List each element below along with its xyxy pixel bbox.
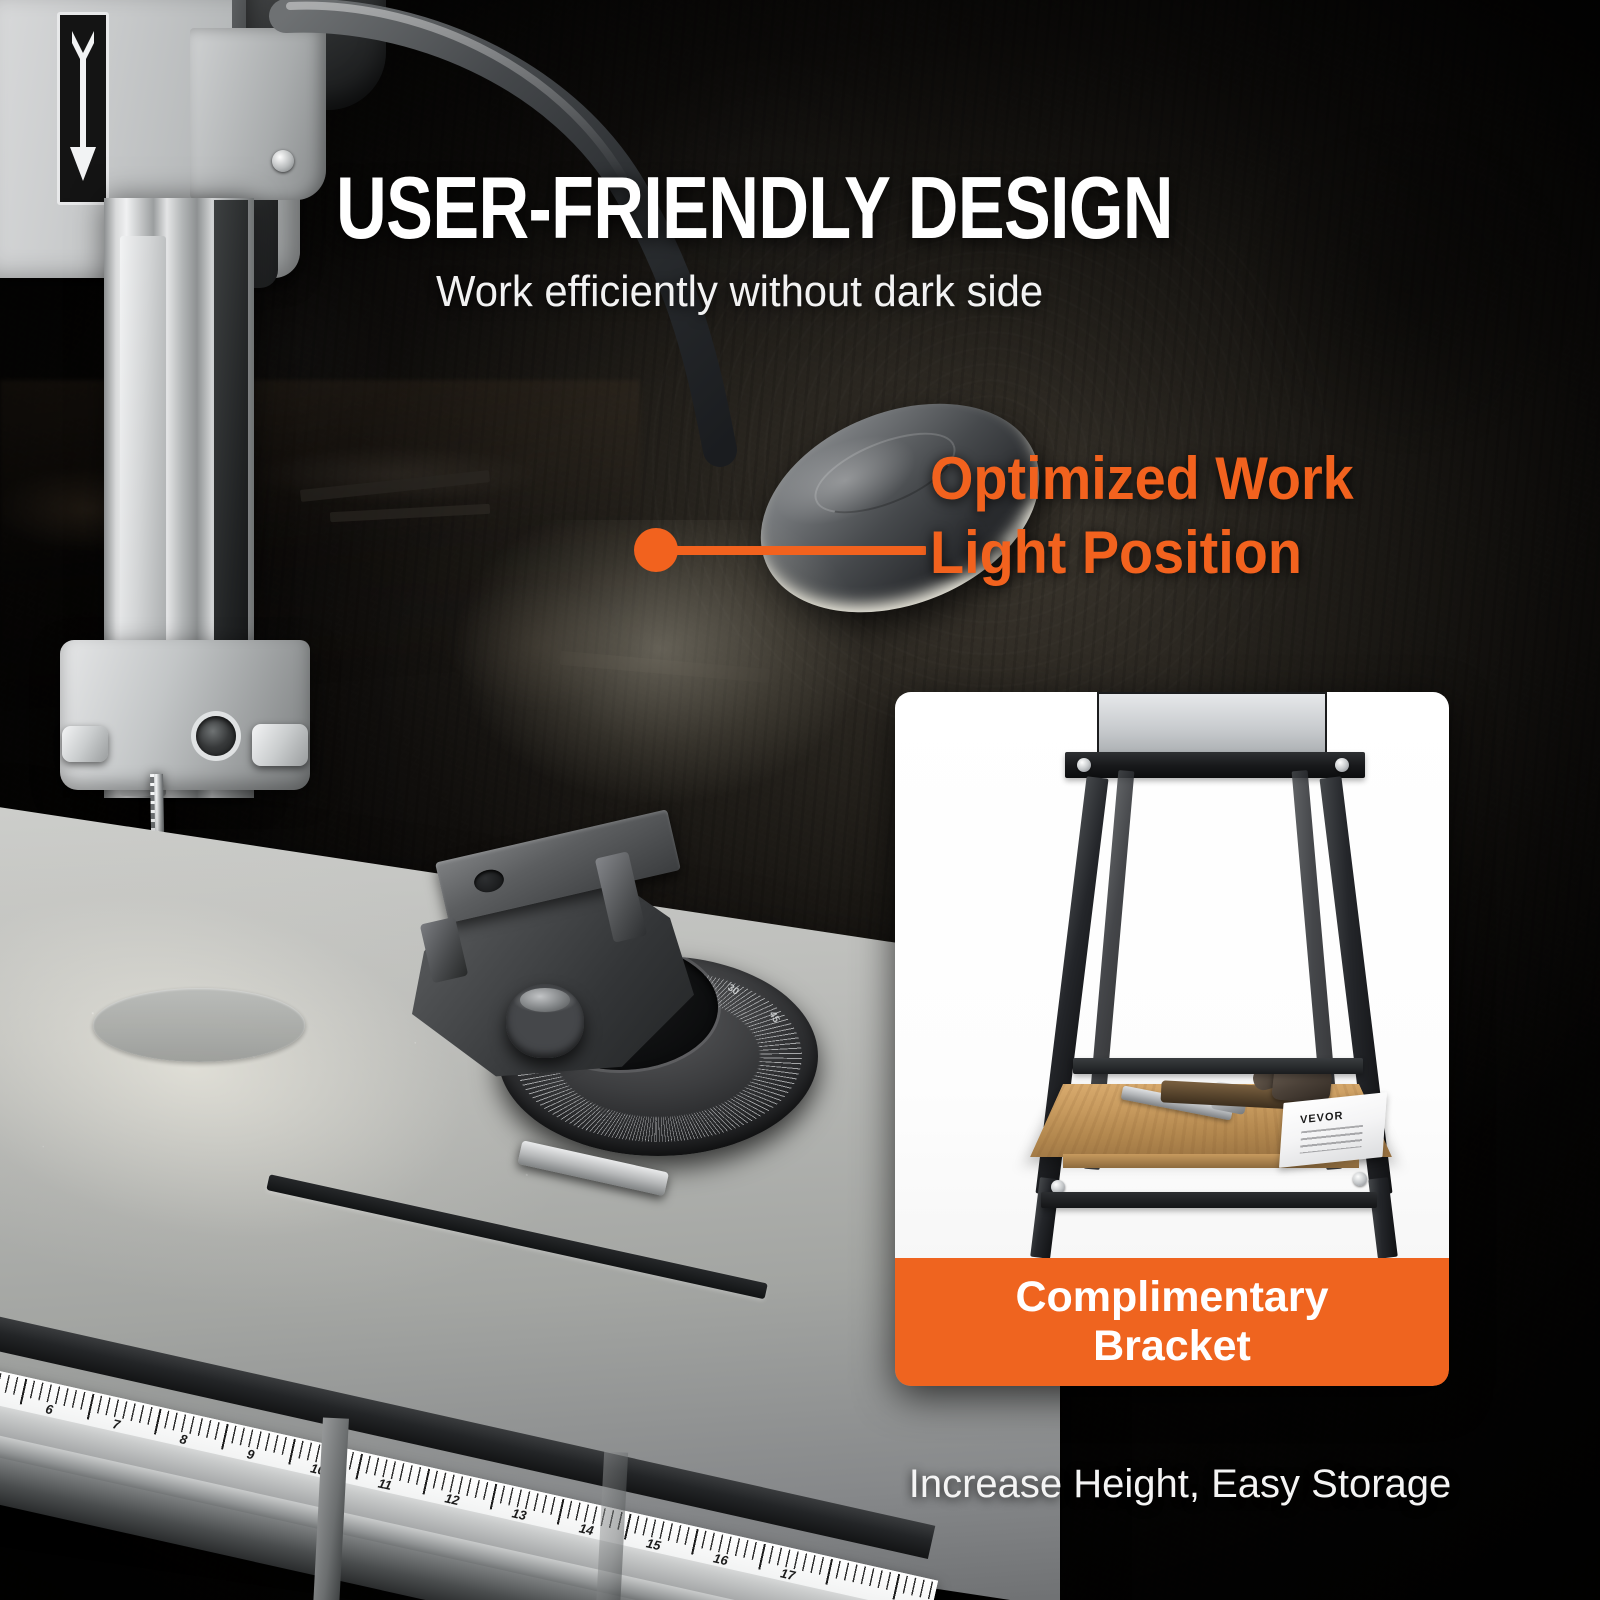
- bracket-inset-card[interactable]: VEVOR Complimentary Bracket: [895, 692, 1449, 1386]
- blade-guide-assembly: [60, 640, 310, 790]
- callout-leader-line: [668, 546, 926, 555]
- ruler-number: 15: [645, 1535, 662, 1553]
- ruler-number: 11: [377, 1475, 393, 1493]
- ruler-number: 8: [178, 1431, 188, 1447]
- bolt-icon: [1335, 758, 1349, 772]
- throat-plate-insert: [93, 988, 305, 1062]
- miter-knob-cap: [520, 988, 570, 1012]
- inset-caption: Increase Height, Easy Storage: [860, 1462, 1500, 1507]
- ruler-number: 16: [712, 1550, 729, 1568]
- ruler-number: 14: [578, 1520, 595, 1538]
- miter-gauge[interactable]: 4530150153045: [398, 838, 818, 1178]
- page-title: USER-FRIENDLY DESIGN: [336, 164, 1072, 252]
- miter-degree-label: 30: [726, 983, 741, 998]
- miter-degree-label: 45: [766, 1010, 781, 1025]
- blade-direction-decal: [57, 12, 109, 205]
- vevor-manual: VEVOR: [1279, 1092, 1387, 1168]
- manual-text-lines: [1300, 1125, 1363, 1154]
- callout-line-2: Light Position: [930, 518, 1302, 588]
- bracket-photo: VEVOR: [895, 692, 1449, 1258]
- ruler-number: 9: [246, 1446, 256, 1462]
- badge-line-1: Complimentary: [1015, 1273, 1328, 1322]
- bandsaw-base-on-stand: [1097, 692, 1327, 758]
- guide-bearing: [196, 716, 236, 756]
- callout-line-1: Optimized Work: [930, 444, 1354, 514]
- complimentary-bracket-badge: Complimentary Bracket: [895, 1258, 1449, 1386]
- bolt-icon: [1077, 758, 1091, 772]
- ruler-number: 6: [44, 1401, 54, 1417]
- page-subtitle: Work efficiently without dark side: [436, 268, 1158, 316]
- down-arrow-icon: [66, 29, 100, 189]
- bolt-icon: [1353, 1172, 1367, 1186]
- ruler-number: 17: [779, 1565, 796, 1583]
- ruler-number: 12: [443, 1490, 460, 1508]
- ruler-number: 13: [511, 1505, 528, 1523]
- ruler-number: 7: [111, 1416, 121, 1432]
- guide-lock-knob[interactable]: [62, 726, 108, 762]
- vevor-logo: VEVOR: [1300, 1110, 1344, 1127]
- product-marketing-image: 234567891011121314151617 4530150153045: [0, 0, 1600, 1600]
- stand-lower-rail: [1073, 1058, 1363, 1074]
- guide-adjust-knob[interactable]: [252, 724, 308, 766]
- stand-bottom-rail: [1041, 1192, 1377, 1208]
- badge-line-2: Bracket: [1093, 1322, 1251, 1371]
- stand-top-rail: [1065, 752, 1365, 778]
- stand-foot-right: [1368, 1177, 1398, 1258]
